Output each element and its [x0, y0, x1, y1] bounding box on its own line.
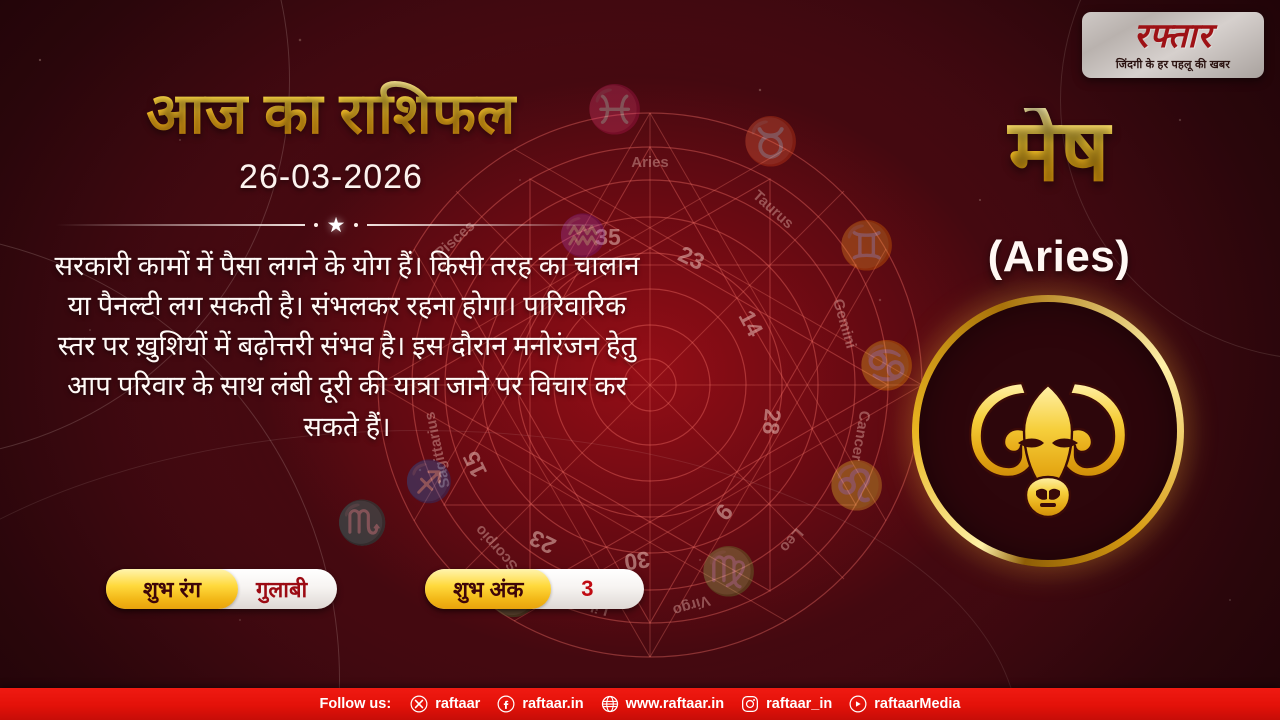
- svg-text:28: 28: [758, 408, 787, 436]
- star-icon: ★: [327, 215, 346, 236]
- svg-text:Taurus: Taurus: [749, 187, 797, 232]
- sign-name-english: (Aries): [860, 232, 1258, 282]
- instagram-icon: [741, 695, 759, 713]
- lucky-color-value: गुलाबी: [238, 574, 333, 604]
- raftaar-logo[interactable]: रफ्तार जिंदगी के हर पहलू की खबर: [1082, 12, 1264, 78]
- sign-name-hindi: मेष: [860, 108, 1258, 194]
- horoscope-card: Aries Taurus Gemini Cancer Leo Virgo Lib…: [0, 0, 1280, 720]
- social-link-label: raftaar_in: [766, 696, 832, 712]
- svg-text:14: 14: [734, 306, 769, 341]
- globe-icon: [601, 695, 619, 713]
- right-sign-column: मेष (Aries): [860, 0, 1280, 660]
- horoscope-text: सरकारी कामों में पैसा लगने के योग हैं। क…: [52, 246, 642, 447]
- facebook-icon: [497, 695, 515, 713]
- page-title: आज का राशिफल: [0, 72, 662, 150]
- social-link-label: raftaarMedia: [874, 696, 960, 712]
- svg-text:Leo: Leo: [776, 524, 806, 555]
- social-link-website[interactable]: www.raftaar.in: [601, 695, 725, 713]
- social-link-x[interactable]: raftaar: [410, 695, 480, 713]
- logo-wordmark: रफ्तार: [1134, 19, 1212, 53]
- svg-text:Gemini: Gemini: [829, 297, 859, 351]
- zodiac-glyph-taurus-icon: ♉: [742, 118, 799, 164]
- divider-dot: [314, 223, 318, 227]
- youtube-icon: [849, 695, 867, 713]
- left-content-column: आज का राशिफल 26-03-2026 ★ सरकारी कामों म…: [0, 0, 720, 660]
- logo-tagline: जिंदगी के हर पहलू की खबर: [1116, 57, 1230, 72]
- social-link-label: raftaar: [435, 696, 480, 712]
- follow-us-label: Follow us:: [320, 696, 392, 712]
- social-link-youtube[interactable]: raftaarMedia: [849, 695, 960, 713]
- star-divider: ★: [56, 212, 616, 238]
- divider-dot: [354, 223, 358, 227]
- lucky-number-value: 3: [551, 576, 633, 602]
- social-footer-bar: Follow us: raftaar raftaar.in www.raftaa…: [0, 688, 1280, 720]
- x-twitter-icon: [410, 695, 428, 713]
- divider-line-left: [56, 224, 305, 226]
- social-link-label: www.raftaar.in: [626, 696, 725, 712]
- horoscope-date: 26-03-2026: [0, 158, 662, 197]
- aries-ram-icon: [912, 295, 1184, 567]
- social-link-facebook[interactable]: raftaar.in: [497, 695, 583, 713]
- divider-line-right: [367, 224, 616, 226]
- lucky-badges: शुभ रंग गुलाबी शुभ अंक 3: [106, 569, 644, 609]
- lucky-color-label: शुभ रंग: [106, 569, 238, 609]
- lucky-number-label: शुभ अंक: [425, 569, 551, 609]
- social-link-label: raftaar.in: [522, 696, 583, 712]
- lucky-color-badge: शुभ रंग गुलाबी: [106, 569, 337, 609]
- lucky-number-badge: शुभ अंक 3: [425, 569, 643, 609]
- social-link-instagram[interactable]: raftaar_in: [741, 695, 832, 713]
